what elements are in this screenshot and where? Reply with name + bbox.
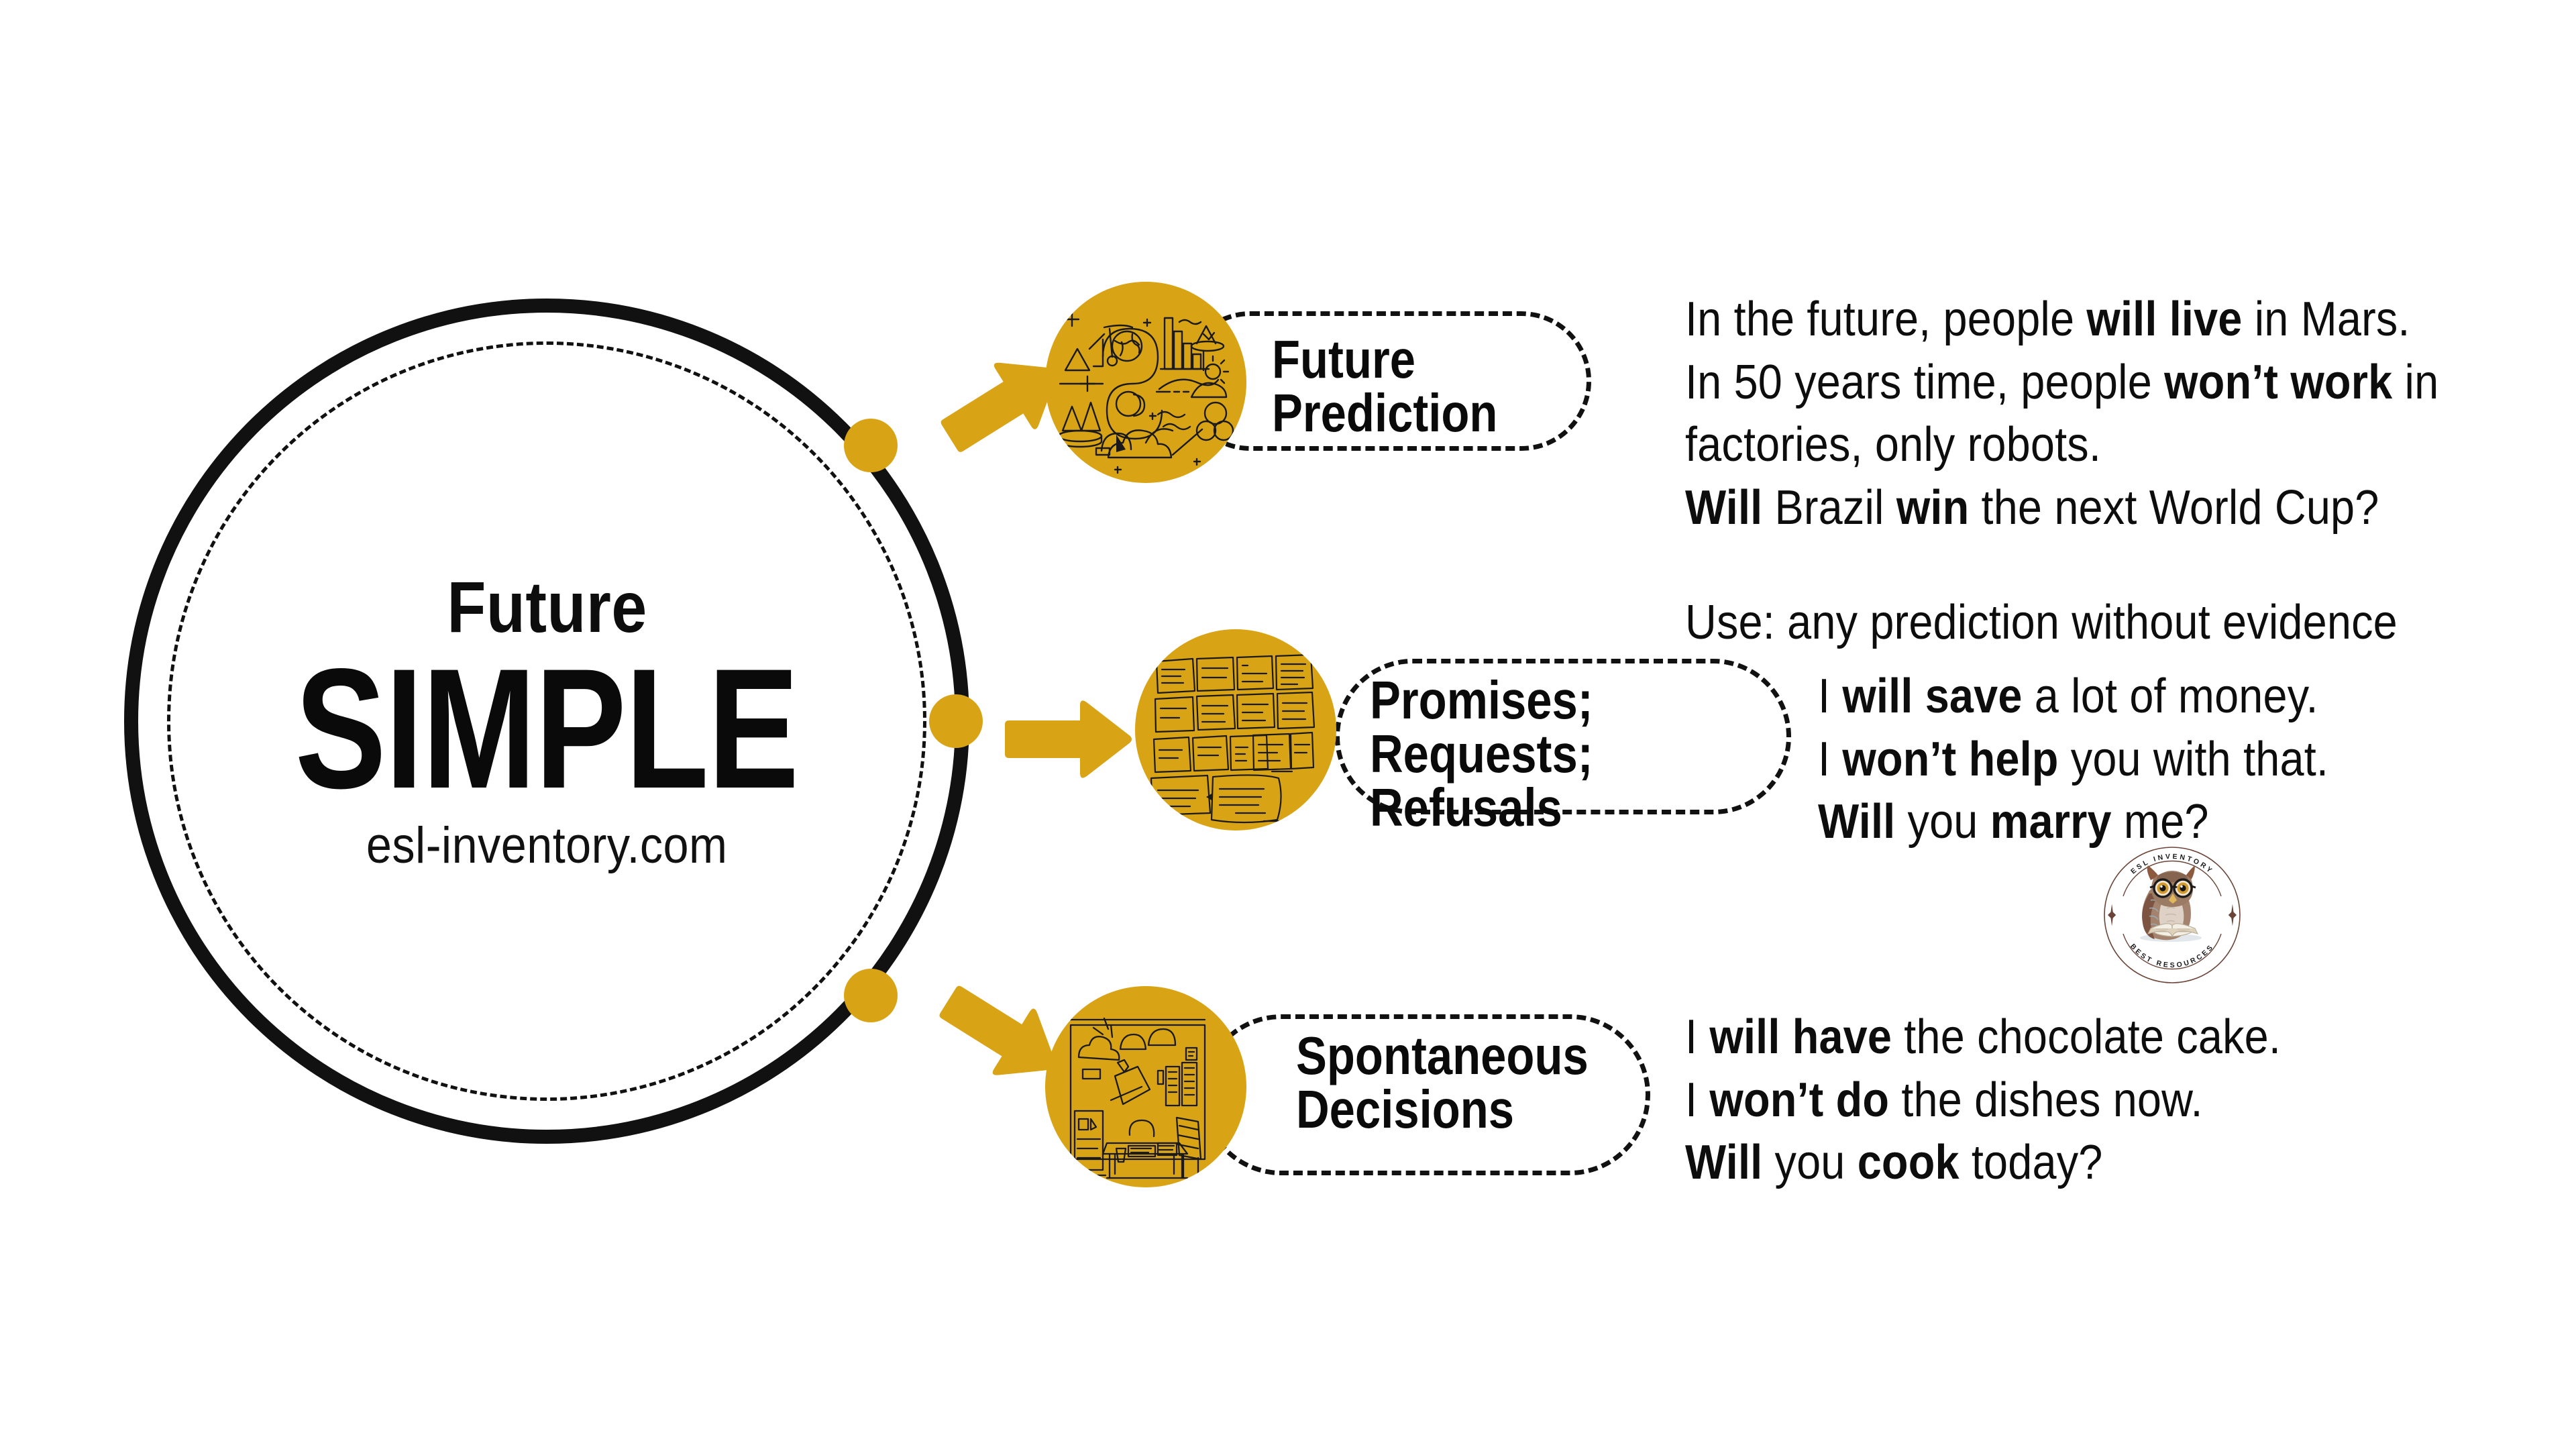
- examples-block-1: In the future, people will live in Mars.…: [1685, 288, 2438, 655]
- page-title: SIMPLE: [295, 647, 798, 812]
- central-hub: Future SIMPLE esl-inventory.com: [124, 299, 969, 1144]
- examples-block-2: I will save a lot of money. I won’t help…: [1818, 665, 2328, 854]
- hub-text-group: Future SIMPLE esl-inventory.com: [124, 299, 969, 1144]
- category-label-2: Promises; Requests; Refusals: [1370, 674, 1716, 835]
- example-line: In the future, people will live in Mars.: [1685, 288, 2438, 352]
- connector-dot-bottom: [844, 969, 898, 1022]
- category-label-3: Spontaneous Decisions: [1296, 1029, 1619, 1136]
- example-line: Will Brazil win the next World Cup?: [1685, 477, 2438, 540]
- example-line: factories, only robots.: [1685, 414, 2438, 477]
- future-prediction-sketch-icon: [1045, 282, 1246, 483]
- example-line: I will save a lot of money.: [1818, 665, 2328, 729]
- connector-dot-top: [844, 419, 898, 472]
- connector-dot-middle: [929, 694, 983, 748]
- example-line: In 50 years time, people won’t work in: [1685, 352, 2438, 415]
- example-line: Will you cook today?: [1685, 1132, 2281, 1195]
- desk-workspace-sketch-icon: [1045, 986, 1246, 1187]
- usage-note-1: Use: any prediction without evidence: [1685, 592, 2438, 655]
- sticky-notes-board-icon: [1135, 629, 1336, 830]
- site-url: esl-inventory.com: [366, 820, 728, 871]
- example-line: I won’t help you with that.: [1818, 729, 2328, 792]
- arrow-right-icon: [1005, 698, 1132, 778]
- example-line: Will you marry me?: [1818, 791, 2328, 854]
- esl-inventory-owl-badge: ESL INVENTORY BEST RESOURCES: [2101, 844, 2243, 986]
- example-line: I won’t do the dishes now.: [1685, 1069, 2281, 1132]
- category-label-1: Future Prediction: [1272, 333, 1572, 440]
- examples-block-3: I will have the chocolate cake. I won’t …: [1685, 1006, 2281, 1195]
- example-line: I will have the chocolate cake.: [1685, 1006, 2281, 1069]
- infographic-canvas: Future SIMPLE esl-inventory.com: [0, 0, 2576, 1449]
- hub-kicker: Future: [447, 571, 647, 643]
